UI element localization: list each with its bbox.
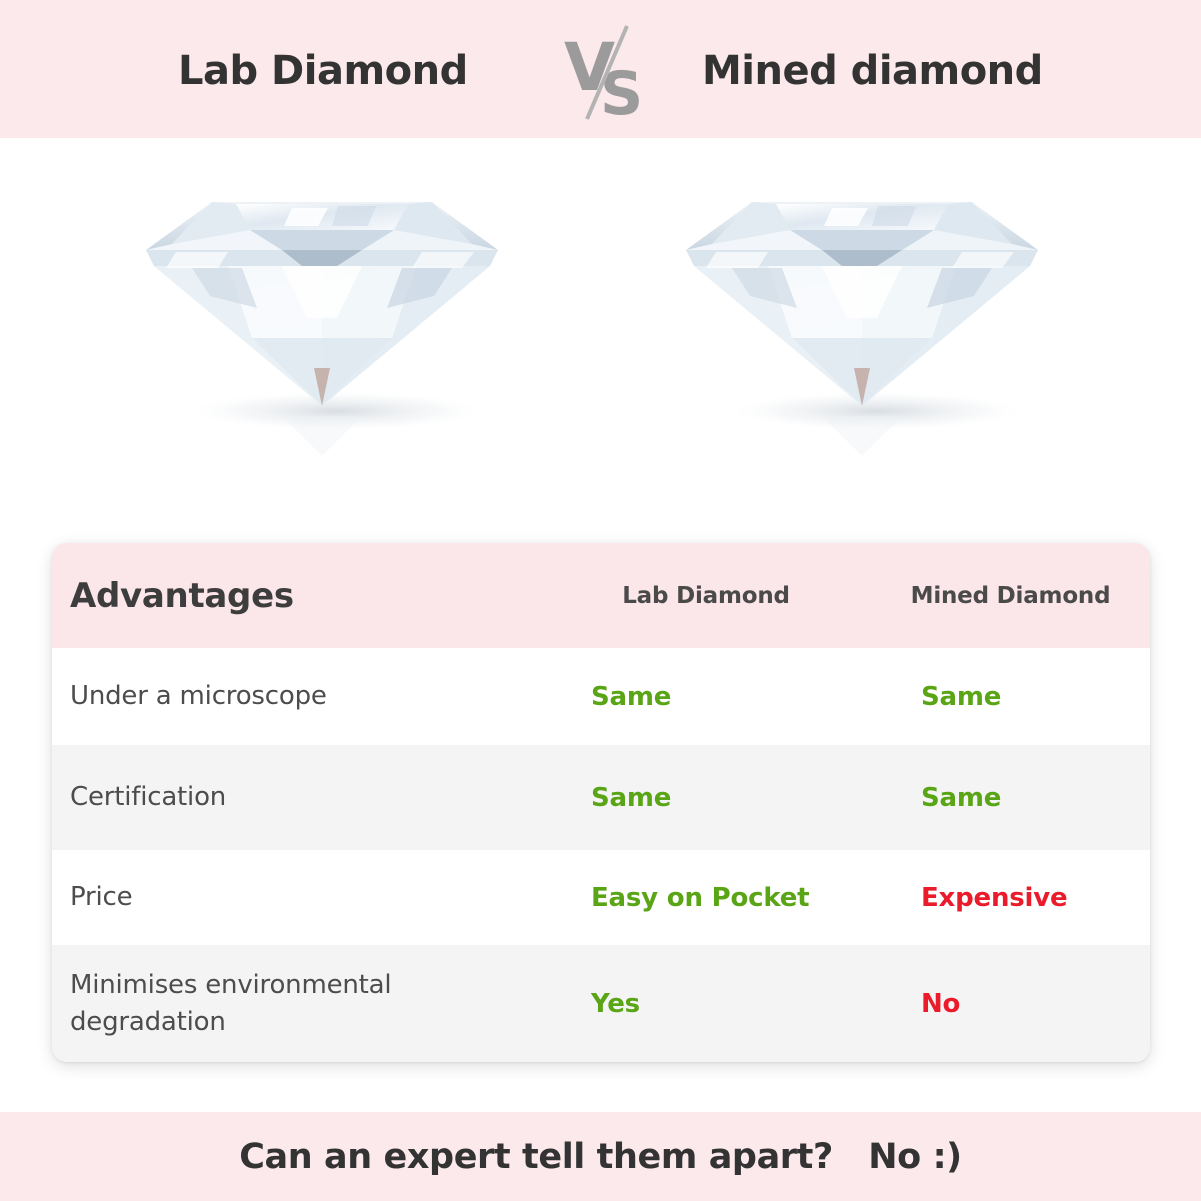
row-feature-cell: Certification [52, 779, 541, 816]
row-mined-value: Same [921, 682, 1001, 712]
row-feature-label: Price [70, 882, 132, 912]
comparison-table-card: Advantages Lab Diamond Mined Diamond Und… [52, 543, 1150, 1062]
header-label-advantages: Advantages [70, 576, 294, 616]
table-row: Under a microscope Same Same [52, 648, 1150, 745]
row-mined-value: Same [921, 783, 1001, 813]
bottom-banner: Can an expert tell them apart? No :) [0, 1112, 1201, 1201]
header-label-mined-diamond: Mined Diamond [911, 583, 1111, 609]
header-cell-mined-diamond: Mined Diamond [871, 583, 1150, 609]
row-lab-cell: Yes [541, 989, 871, 1019]
diamond-illustration [672, 168, 1052, 458]
table-row: Certification Same Same [52, 745, 1150, 850]
title-mined-diamond: Mined diamond [702, 48, 1043, 94]
row-lab-value: Yes [591, 989, 640, 1019]
row-mined-cell: Same [871, 783, 1150, 813]
header-label-lab-diamond: Lab Diamond [622, 583, 790, 609]
diamond-image-mined [672, 168, 1052, 458]
table-header-row: Advantages Lab Diamond Mined Diamond [52, 543, 1150, 648]
row-feature-cell: Minimises environmental degradation [52, 967, 541, 1041]
row-lab-cell: Same [541, 682, 871, 712]
row-mined-cell: Expensive [871, 883, 1150, 913]
row-mined-cell: No [871, 989, 1150, 1019]
table-row: Minimises environmental degradation Yes … [52, 945, 1150, 1062]
vs-icon: V S [556, 22, 666, 122]
row-lab-value: Same [591, 682, 671, 712]
diamond-image-area [0, 138, 1201, 528]
row-mined-cell: Same [871, 682, 1150, 712]
top-banner: Lab Diamond V S Mined diamond [0, 0, 1201, 138]
row-lab-value: Same [591, 783, 671, 813]
vs-badge: V S [556, 22, 666, 122]
row-lab-cell: Same [541, 783, 871, 813]
diamond-illustration [132, 168, 512, 458]
header-cell-lab-diamond: Lab Diamond [541, 583, 871, 609]
diamond-image-lab [132, 168, 512, 458]
title-lab-diamond: Lab Diamond [178, 48, 468, 94]
bottom-banner-text: Can an expert tell them apart? No :) [239, 1137, 962, 1177]
row-feature-label: Certification [70, 782, 226, 812]
row-feature-label: Minimises environmental degradation [70, 970, 391, 1037]
row-feature-label: Under a microscope [70, 681, 327, 711]
row-lab-value: Easy on Pocket [591, 883, 809, 913]
row-mined-value: No [921, 989, 960, 1019]
row-mined-value: Expensive [921, 883, 1067, 913]
svg-text:S: S [600, 59, 643, 122]
table-row: Price Easy on Pocket Expensive [52, 850, 1150, 945]
infographic-root: Lab Diamond V S Mined diamond [0, 0, 1201, 1201]
header-cell-advantages: Advantages [52, 576, 541, 616]
row-feature-cell: Under a microscope [52, 678, 541, 715]
row-feature-cell: Price [52, 879, 541, 916]
row-lab-cell: Easy on Pocket [541, 883, 871, 913]
